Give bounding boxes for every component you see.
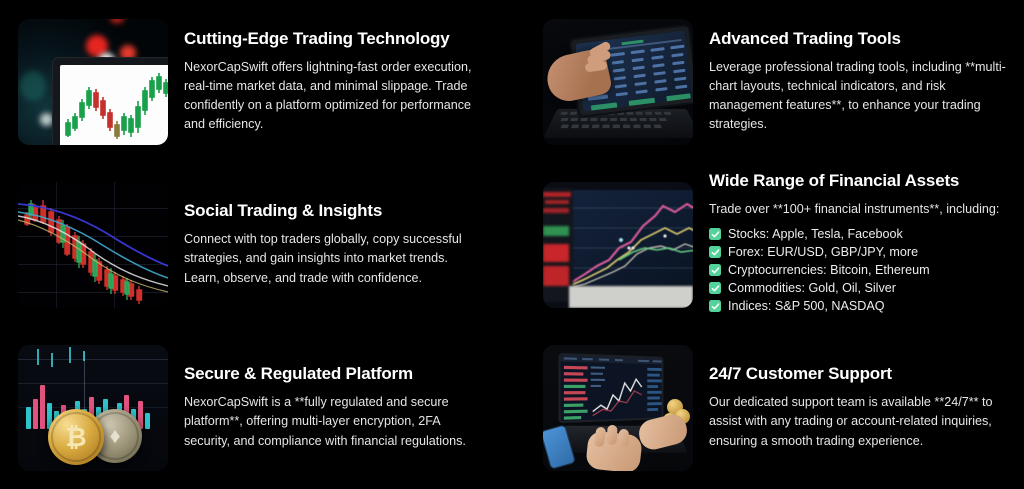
asset-checklist: Stocks: Apple, Tesla, Facebook Forex: EU… <box>709 228 1014 313</box>
feature-card-social-trading-and-insights: Social Trading & Insights Connect with t… <box>0 163 497 326</box>
list-item-label: Stocks: Apple, Tesla, Facebook <box>728 228 903 241</box>
list-item-label: Forex: EUR/USD, GBP/JPY, more <box>728 246 918 259</box>
list-item-label: Cryptocurrencies: Bitcoin, Ethereum <box>728 264 930 277</box>
feature-title: Social Trading & Insights <box>184 201 487 221</box>
feature-card-cutting-edge-trading-technology: Cutting-Edge Trading Technology NexorCap… <box>0 0 497 163</box>
feature-description: Leverage professional trading tools, inc… <box>709 58 1014 135</box>
feature-image-laptop-trading <box>543 345 693 471</box>
feature-lead-text: Trade over **100+ financial instruments*… <box>709 200 1014 219</box>
list-item: Commodities: Gold, Oil, Silver <box>709 282 1014 295</box>
feature-description: NexorCapSwift is a **fully regulated and… <box>184 393 484 450</box>
feature-copy: Wide Range of Financial Assets Trade ove… <box>709 171 1024 318</box>
feature-card-secure-and-regulated-platform: ♦ ₿ Secure & Regulated Platform NexorCap… <box>0 326 497 489</box>
feature-title: Secure & Regulated Platform <box>184 364 487 384</box>
feature-image-multiline-monitor <box>543 182 693 308</box>
checkmark-icon <box>709 300 721 312</box>
feature-card-wide-range-of-financial-assets: Wide Range of Financial Assets Trade ove… <box>527 163 1024 326</box>
checkmark-icon <box>709 264 721 276</box>
feature-description: NexorCapSwift offers lightning-fast orde… <box>184 58 484 135</box>
list-item-label: Commodities: Gold, Oil, Silver <box>728 282 896 295</box>
checkmark-icon <box>709 246 721 258</box>
bitcoin-coin: ₿ <box>48 409 104 465</box>
feature-description: Our dedicated support team is available … <box>709 393 1014 450</box>
feature-image-candlestick-tablet <box>18 19 168 145</box>
features-grid: Cutting-Edge Trading Technology NexorCap… <box>0 0 1024 489</box>
feature-description: Connect with top traders globally, copy … <box>184 230 484 287</box>
list-item: Stocks: Apple, Tesla, Facebook <box>709 228 1014 241</box>
feature-copy: Advanced Trading Tools Leverage professi… <box>709 29 1024 135</box>
checkmark-icon <box>709 228 721 240</box>
feature-card-24-7-customer-support: 24/7 Customer Support Our dedicated supp… <box>527 326 1024 489</box>
feature-copy: Secure & Regulated Platform NexorCapSwif… <box>184 364 497 450</box>
feature-copy: 24/7 Customer Support Our dedicated supp… <box>709 364 1024 450</box>
feature-copy: Cutting-Edge Trading Technology NexorCap… <box>184 29 497 135</box>
list-item-label: Indices: S&P 500, NASDAQ <box>728 300 885 313</box>
feature-image-declining-candles <box>18 182 168 308</box>
feature-image-crypto-coins: ♦ ₿ <box>18 345 168 471</box>
list-item: Cryptocurrencies: Bitcoin, Ethereum <box>709 264 1014 277</box>
list-item: Indices: S&P 500, NASDAQ <box>709 300 1014 313</box>
feature-title: 24/7 Customer Support <box>709 364 1014 384</box>
feature-copy: Social Trading & Insights Connect with t… <box>184 201 497 287</box>
feature-card-advanced-trading-tools: Advanced Trading Tools Leverage professi… <box>527 0 1024 163</box>
feature-title: Wide Range of Financial Assets <box>709 171 1014 191</box>
list-item: Forex: EUR/USD, GBP/JPY, more <box>709 246 1014 259</box>
checkmark-icon <box>709 282 721 294</box>
feature-title: Advanced Trading Tools <box>709 29 1014 49</box>
feature-image-hand-tablet <box>543 19 693 145</box>
feature-title: Cutting-Edge Trading Technology <box>184 29 487 49</box>
